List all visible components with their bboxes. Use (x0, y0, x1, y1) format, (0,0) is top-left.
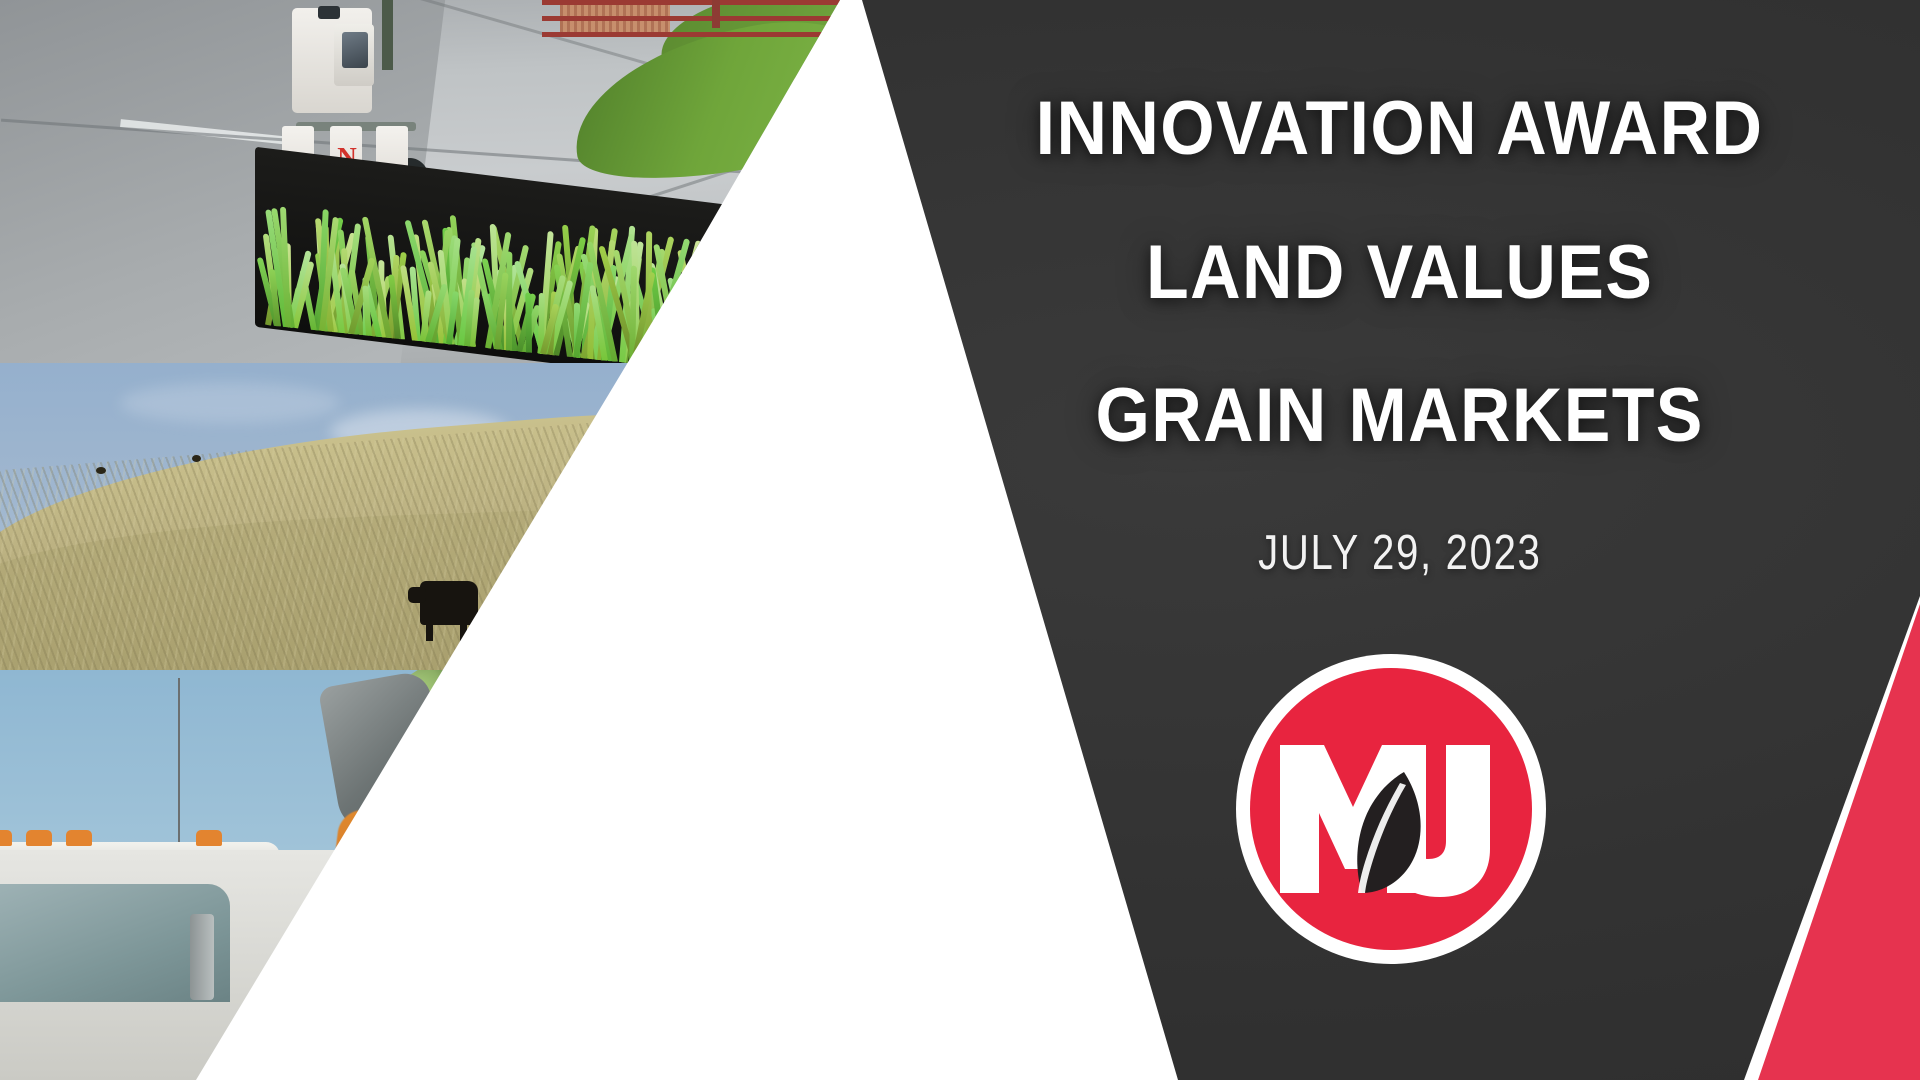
robot-display-icon (342, 32, 368, 68)
camera-icon (318, 6, 340, 19)
title-card: N (0, 0, 1920, 1080)
side-mirror (190, 914, 214, 1000)
mj-logo (1234, 652, 1548, 966)
mj-logo-icon (1234, 652, 1548, 966)
grazing-cow (420, 581, 478, 625)
metal-gate (542, 0, 842, 54)
